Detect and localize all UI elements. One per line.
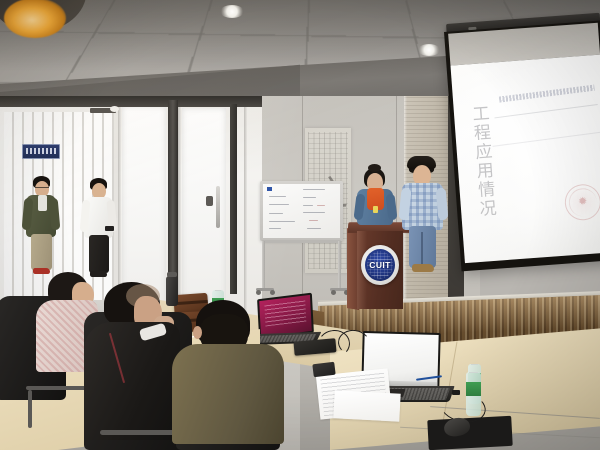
glasses-icon — [35, 187, 49, 191]
whiteboard-note — [269, 204, 289, 205]
attendee-standing-olive — [28, 176, 60, 276]
presenter-male — [404, 158, 448, 276]
name-badge — [373, 206, 378, 213]
seal-star-icon: ✹ — [578, 196, 588, 208]
whiteboard-note — [317, 205, 325, 206]
bottle-cap — [215, 290, 222, 291]
attendee-standing-white-shirt — [86, 178, 116, 278]
corridor-room-sign — [22, 144, 60, 159]
handout-papers — [333, 390, 400, 421]
cuit-emblem: CUIT — [361, 245, 399, 285]
attendee-seated-at-laptop — [192, 300, 304, 450]
emblem-wordmark: CUIT — [361, 260, 399, 270]
handheld-phone — [105, 226, 114, 231]
laptop-right-group[interactable] — [352, 320, 472, 362]
conference-room-photo: 之 — [0, 0, 600, 450]
inner-shirt — [38, 195, 47, 211]
whiteboard-leg — [338, 241, 341, 289]
chair-crossbar — [100, 430, 176, 435]
door-header-beam — [0, 96, 262, 107]
projector-screen[interactable]: 工程应用情况 ✹ — [444, 20, 600, 271]
cable-connector — [452, 390, 460, 395]
chair-crossbar — [26, 386, 90, 390]
whiteboard-marker-tray — [262, 240, 341, 243]
door-lock-icon[interactable] — [206, 196, 213, 206]
glass-mullion — [244, 104, 247, 314]
whiteboard-note — [303, 212, 325, 213]
arm-right — [385, 194, 397, 221]
whiteboard-leg — [262, 241, 265, 289]
whiteboard-magnet — [267, 187, 272, 191]
glass-door-frame-secondary[interactable] — [230, 104, 237, 294]
downlight-icon — [220, 5, 244, 18]
bottle-cap — [469, 372, 477, 373]
whiteboard-note — [307, 228, 321, 229]
arm-right — [436, 188, 449, 221]
whiteboard-note — [303, 197, 316, 198]
whiteboard-caster — [331, 290, 336, 295]
whiteboard-note — [303, 189, 325, 190]
emergency-light-icon — [110, 106, 119, 112]
ear — [193, 326, 202, 339]
torso-olive-jacket — [172, 344, 284, 444]
bottle-cap — [471, 364, 478, 365]
presenter-female — [358, 168, 396, 228]
whiteboard-note — [269, 228, 281, 229]
arm-right — [49, 198, 61, 231]
whiteboard-note — [269, 196, 286, 197]
chair-leg — [28, 390, 32, 428]
hair-bun — [368, 164, 381, 172]
whiteboard-note — [269, 213, 283, 214]
torso-dark-jacket — [84, 322, 180, 440]
sign-text-glyphs — [26, 148, 56, 154]
projected-slide: 工程应用情况 ✹ — [450, 55, 600, 263]
downlight-icon — [418, 44, 440, 56]
smartphone[interactable] — [312, 362, 335, 378]
whiteboard-surface[interactable] — [263, 184, 340, 238]
whiteboard[interactable] — [260, 181, 343, 241]
whiteboard-note — [309, 220, 318, 221]
door-handle[interactable] — [216, 186, 220, 228]
leg-separation — [421, 232, 423, 268]
flask-cap — [167, 272, 177, 277]
whiteboard-note — [269, 221, 295, 222]
whiteboard-note — [303, 205, 313, 206]
legs-dark-trousers — [89, 235, 109, 273]
legs-khaki — [31, 234, 52, 270]
shoes — [412, 264, 434, 272]
